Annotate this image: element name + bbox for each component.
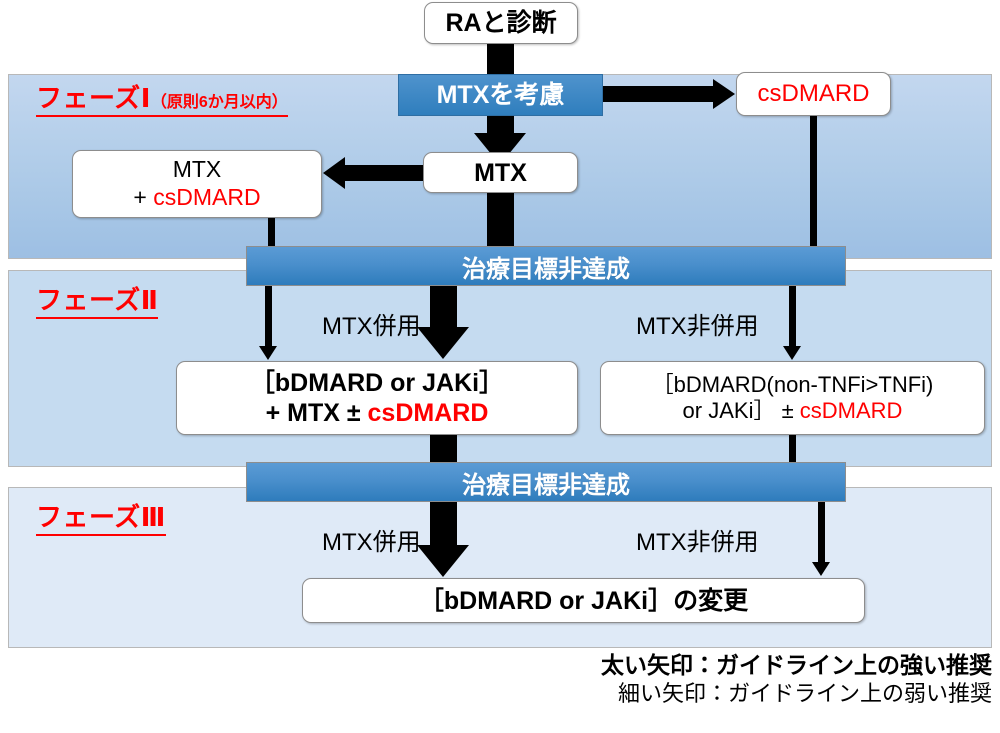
- connector-bar1-to-bdmard-nontnfi-shaft: [789, 286, 796, 348]
- node-csdmard[interactable]: csDMARD: [736, 72, 891, 116]
- node-consider-mtx[interactable]: MTXを考慮: [398, 74, 603, 116]
- node-mtx-plus-csdmard-line2: + csDMARD: [133, 184, 260, 212]
- arrowhead-down-bar1-thin-right: [783, 346, 801, 360]
- node-csdmard-label: csDMARD: [758, 80, 870, 109]
- connector-mtx-csdmard-to-bar1: [268, 218, 275, 248]
- node-bdmard-or-jaki-plus-mtx[interactable]: ［bDMARD or JAKi］ + MTX ± csDMARD: [176, 361, 578, 435]
- legend-weak-arrow: 細い矢印：ガイドライン上の弱い推奨: [601, 680, 992, 708]
- arrowhead-down-bar2-thin: [812, 562, 830, 576]
- node-bdmard-or-jaki-plus-mtx-line2-red: csDMARD: [368, 399, 489, 427]
- node-bdmard-or-jaki-plus-mtx-line2: + MTX ± csDMARD: [266, 398, 489, 428]
- node-mtx-plus-csdmard-line2-plain: +: [133, 184, 153, 210]
- branch-label-phase2-without-mtx: MTX非併用: [636, 306, 759, 341]
- node-mtx[interactable]: MTX: [423, 152, 578, 193]
- node-consider-mtx-label: MTXを考慮: [437, 80, 565, 110]
- status-bar-target-not-achieved-2[interactable]: 治療目標非達成: [246, 462, 846, 502]
- connector-bar1-to-bdmard-mtx-thick-shaft: [430, 286, 457, 330]
- node-bdmard-nontnfi-or-jaki-line2-plain: or JAKi］ ±: [683, 398, 800, 423]
- node-mtx-plus-csdmard[interactable]: MTX + csDMARD: [72, 150, 322, 218]
- node-mtx-plus-csdmard-line2-red: csDMARD: [153, 184, 260, 210]
- phase-label-1: フェーズⅠ（原則6か月以内）: [36, 84, 288, 117]
- connector-diagnosis-to-consider-mtx: [487, 44, 514, 76]
- arrowhead-left-to-mtx-csdmard: [323, 157, 345, 189]
- phase-label-2: フェーズⅡ: [36, 286, 158, 319]
- connector-bdmard-mtx-to-bar2: [430, 435, 457, 464]
- legend: 太い矢印：ガイドライン上の強い推奨 細い矢印：ガイドライン上の弱い推奨: [601, 651, 992, 709]
- node-mtx-plus-csdmard-line1: MTX: [173, 156, 222, 184]
- phase-label-1-sub: （原則6か月以内）: [151, 94, 288, 111]
- arrowhead-right-to-csdmard: [713, 79, 735, 109]
- node-bdmard-nontnfi-or-jaki-line1: ［bDMARD(non-TNFi>TNFi): [652, 372, 934, 398]
- branch-label-phase3-with-mtx: MTX併用: [322, 522, 421, 557]
- connector-bar1-to-bdmard-mtx-thin-shaft: [265, 286, 272, 348]
- connector-bar2-to-change-thick-shaft: [430, 502, 457, 548]
- node-mtx-label: MTX: [474, 158, 527, 188]
- connector-mtx-to-mtx-csdmard-shaft: [345, 165, 425, 181]
- node-bdmard-nontnfi-or-jaki-line2: or JAKi］ ± csDMARD: [683, 398, 903, 424]
- node-change-bdmard-or-jaki[interactable]: ［bDMARD or JAKi］の変更: [302, 578, 865, 623]
- status-bar-target-not-achieved-1-label: 治療目標非達成: [462, 249, 630, 284]
- connector-bdmard-nontnfi-to-bar2: [789, 435, 796, 464]
- connector-consider-mtx-to-csdmard-shaft: [603, 86, 715, 102]
- arrowhead-down-bar1-thin-left: [259, 346, 277, 360]
- connector-csdmard-to-bar1: [810, 116, 817, 248]
- node-ra-diagnosis[interactable]: RAと診断: [424, 2, 578, 44]
- connector-mtx-to-bar1: [487, 193, 514, 248]
- branch-label-phase3-without-mtx: MTX非併用: [636, 522, 759, 557]
- flowchart-canvas: フェーズⅠ（原則6か月以内） フェーズⅡ フェーズⅢ RAと診断 MTXを考慮 …: [0, 0, 1000, 733]
- node-bdmard-or-jaki-plus-mtx-line1: ［bDMARD or JAKi］: [250, 368, 504, 398]
- phase-label-3: フェーズⅢ: [36, 503, 166, 536]
- phase-label-2-main: フェーズⅡ: [36, 285, 158, 315]
- node-bdmard-or-jaki-plus-mtx-line2-plain: + MTX ±: [266, 399, 368, 427]
- node-bdmard-nontnfi-or-jaki[interactable]: ［bDMARD(non-TNFi>TNFi) or JAKi］ ± csDMAR…: [600, 361, 985, 435]
- status-bar-target-not-achieved-1[interactable]: 治療目標非達成: [246, 246, 846, 286]
- node-bdmard-nontnfi-or-jaki-line2-red: csDMARD: [800, 398, 903, 423]
- connector-bar2-to-change-thin-shaft: [818, 502, 825, 564]
- branch-label-phase2-with-mtx: MTX併用: [322, 306, 421, 341]
- node-ra-diagnosis-label: RAと診断: [445, 8, 556, 38]
- status-bar-target-not-achieved-2-label: 治療目標非達成: [462, 465, 630, 500]
- phase-label-1-main: フェーズⅠ: [36, 83, 151, 113]
- arrowhead-down-bar1-thick: [417, 327, 469, 359]
- legend-strong-arrow: 太い矢印：ガイドライン上の強い推奨: [601, 651, 992, 680]
- arrowhead-down-bar2-thick: [417, 545, 469, 577]
- node-change-bdmard-or-jaki-label: ［bDMARD or JAKi］の変更: [419, 586, 748, 616]
- phase-label-3-main: フェーズⅢ: [36, 502, 166, 532]
